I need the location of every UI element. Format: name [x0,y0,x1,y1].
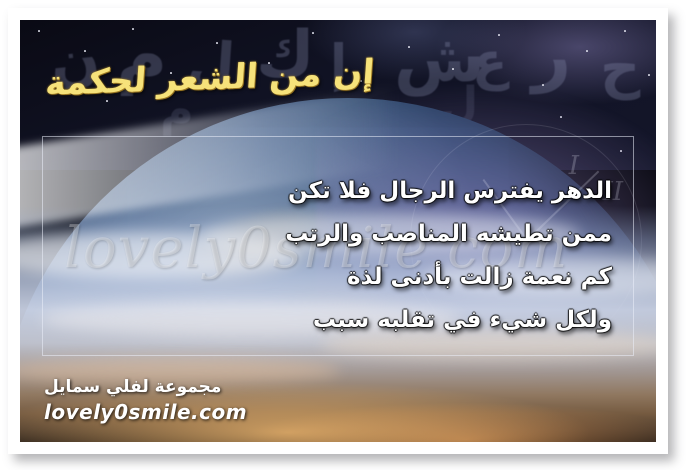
poem-line: ولكل شيء في تقلبه سبب [52,299,612,342]
poem-block: الدهر يفترس الرجال فلا تكن ممن تطيشه الم… [52,170,612,342]
poem-line: الدهر يفترس الرجال فلا تكن [52,170,612,213]
credit-arabic-label: مجموعة لفلي سمايل [44,377,247,397]
photo-frame: ن م ل ك إ ش ع ر ح م ل [8,8,668,454]
credit-block: مجموعة لفلي سمايل lovely0smile.com [44,377,247,424]
poem-line: ممن تطيشه المناصب والرتب [52,213,612,256]
credit-url[interactable]: lovely0smile.com [44,400,247,424]
screenshot-canvas: ن م ل ك إ ش ع ر ح م ل [0,0,692,470]
poem-line: كم نعمة زالت بأدنى لذة [52,256,612,299]
poster-image: ن م ل ك إ ش ع ر ح م ل [20,20,656,442]
